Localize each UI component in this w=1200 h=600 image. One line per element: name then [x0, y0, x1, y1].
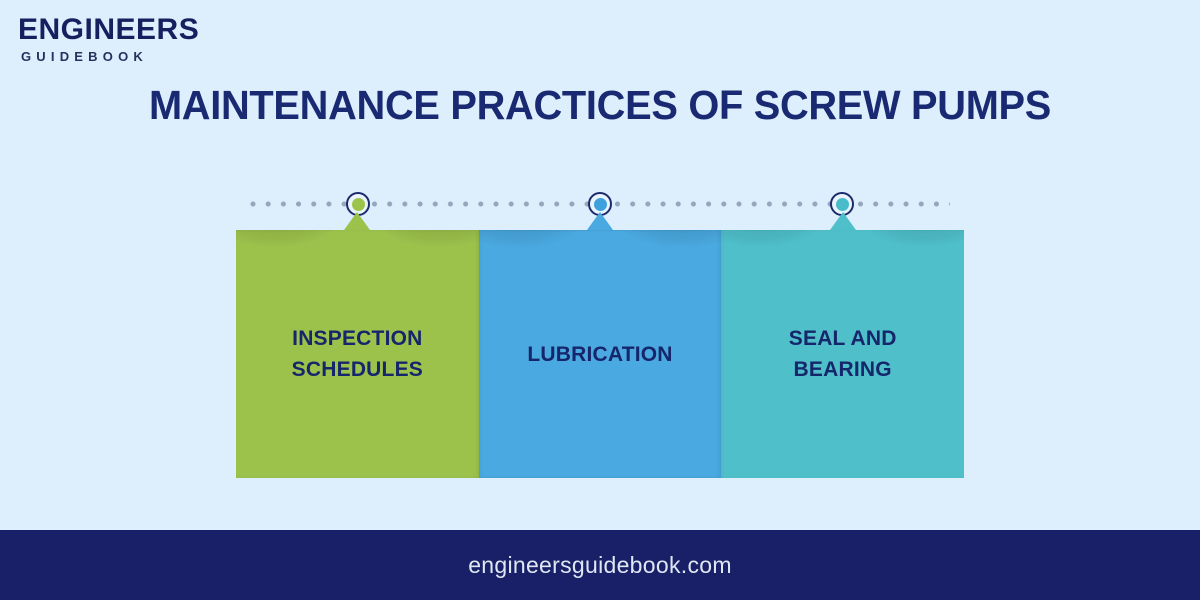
card-top-texture	[479, 230, 722, 270]
card-label: LUBRICATION	[515, 339, 684, 370]
logo-primary-text: ENGINEERS	[18, 14, 348, 46]
timeline-marker-core-icon	[836, 198, 849, 211]
page-title: MAINTENANCE PRACTICES OF SCREW PUMPS	[18, 82, 1182, 129]
card-row: INSPECTION SCHEDULES LUBRICATION SEAL AN…	[236, 230, 964, 478]
card-lubrication[interactable]: LUBRICATION	[479, 230, 722, 478]
footer-website-text: engineersguidebook.com	[468, 552, 732, 579]
brand-logo: ENGINEERS GUIDEBOOK	[18, 14, 348, 65]
card-label: SEAL AND BEARING	[777, 323, 909, 385]
card-pointer-triangle-icon	[587, 212, 613, 230]
card-seal-and-bearing[interactable]: SEAL AND BEARING	[721, 230, 964, 478]
card-top-texture	[721, 230, 964, 270]
timeline-marker-core-icon	[352, 198, 365, 211]
card-top-texture	[236, 230, 479, 270]
card-inspection-schedules[interactable]: INSPECTION SCHEDULES	[236, 230, 479, 478]
timeline-marker-core-icon	[594, 198, 607, 211]
card-pointer-triangle-icon	[344, 212, 370, 230]
logo-secondary-text: GUIDEBOOK	[21, 49, 348, 65]
infographic-page: ENGINEERS GUIDEBOOK MAINTENANCE PRACTICE…	[0, 0, 1200, 600]
card-label: INSPECTION SCHEDULES	[280, 323, 435, 385]
card-pointer-triangle-icon	[830, 212, 856, 230]
footer-bar: engineersguidebook.com	[0, 530, 1200, 600]
